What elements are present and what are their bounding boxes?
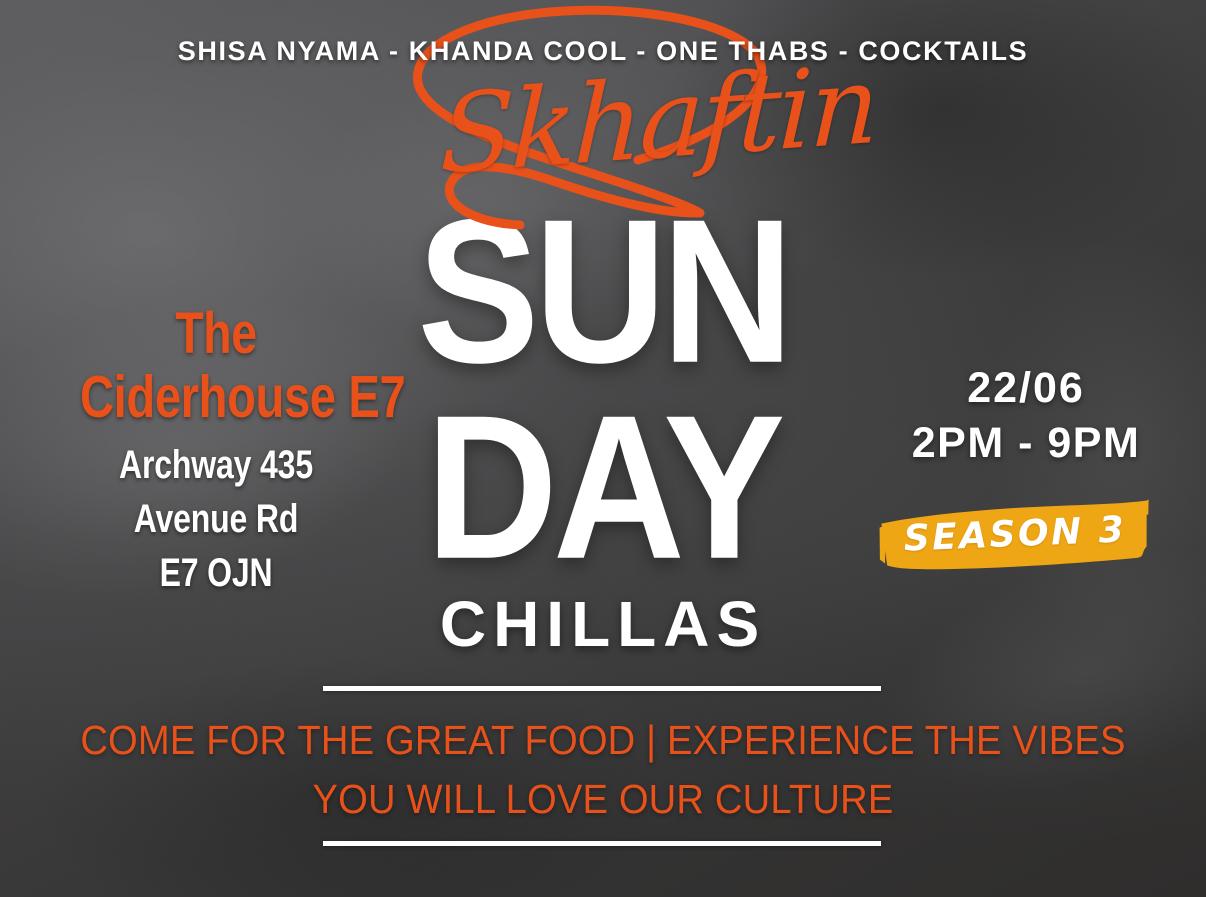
venue-name-line1: The [80, 306, 352, 363]
event-poster: SHISA NYAMA - KHANDA COOL - ONE THABS - … [0, 0, 1206, 897]
divider-bottom [323, 841, 881, 846]
venue-block: The Ciderhouse E7 Archway 435 Avenue Rd … [46, 306, 386, 593]
tagline-block: COME FOR THE GREAT FOOD | EXPERIENCE THE… [0, 720, 1206, 820]
season-badge: SEASON 3 [877, 494, 1154, 575]
offerings-strip: SHISA NYAMA - KHANDA COOL - ONE THABS - … [0, 36, 1206, 67]
season-badge-label: SEASON 3 [877, 494, 1154, 575]
tagline-line1: COME FOR THE GREAT FOOD | EXPERIENCE THE… [42, 720, 1164, 761]
event-time: 2PM - 9PM [856, 421, 1196, 466]
event-date: 22/06 [856, 366, 1196, 411]
venue-address-line2: Avenue Rd [80, 499, 352, 539]
divider-top [323, 686, 881, 691]
schedule-block: 22/06 2PM - 9PM [856, 366, 1196, 466]
event-subtitle: CHILLAS [0, 587, 1206, 661]
tagline-line2: YOU WILL LOVE OUR CULTURE [42, 779, 1164, 820]
venue-address-line1: Archway 435 [80, 445, 352, 485]
venue-name-line2: Ciderhouse E7 [80, 369, 352, 427]
